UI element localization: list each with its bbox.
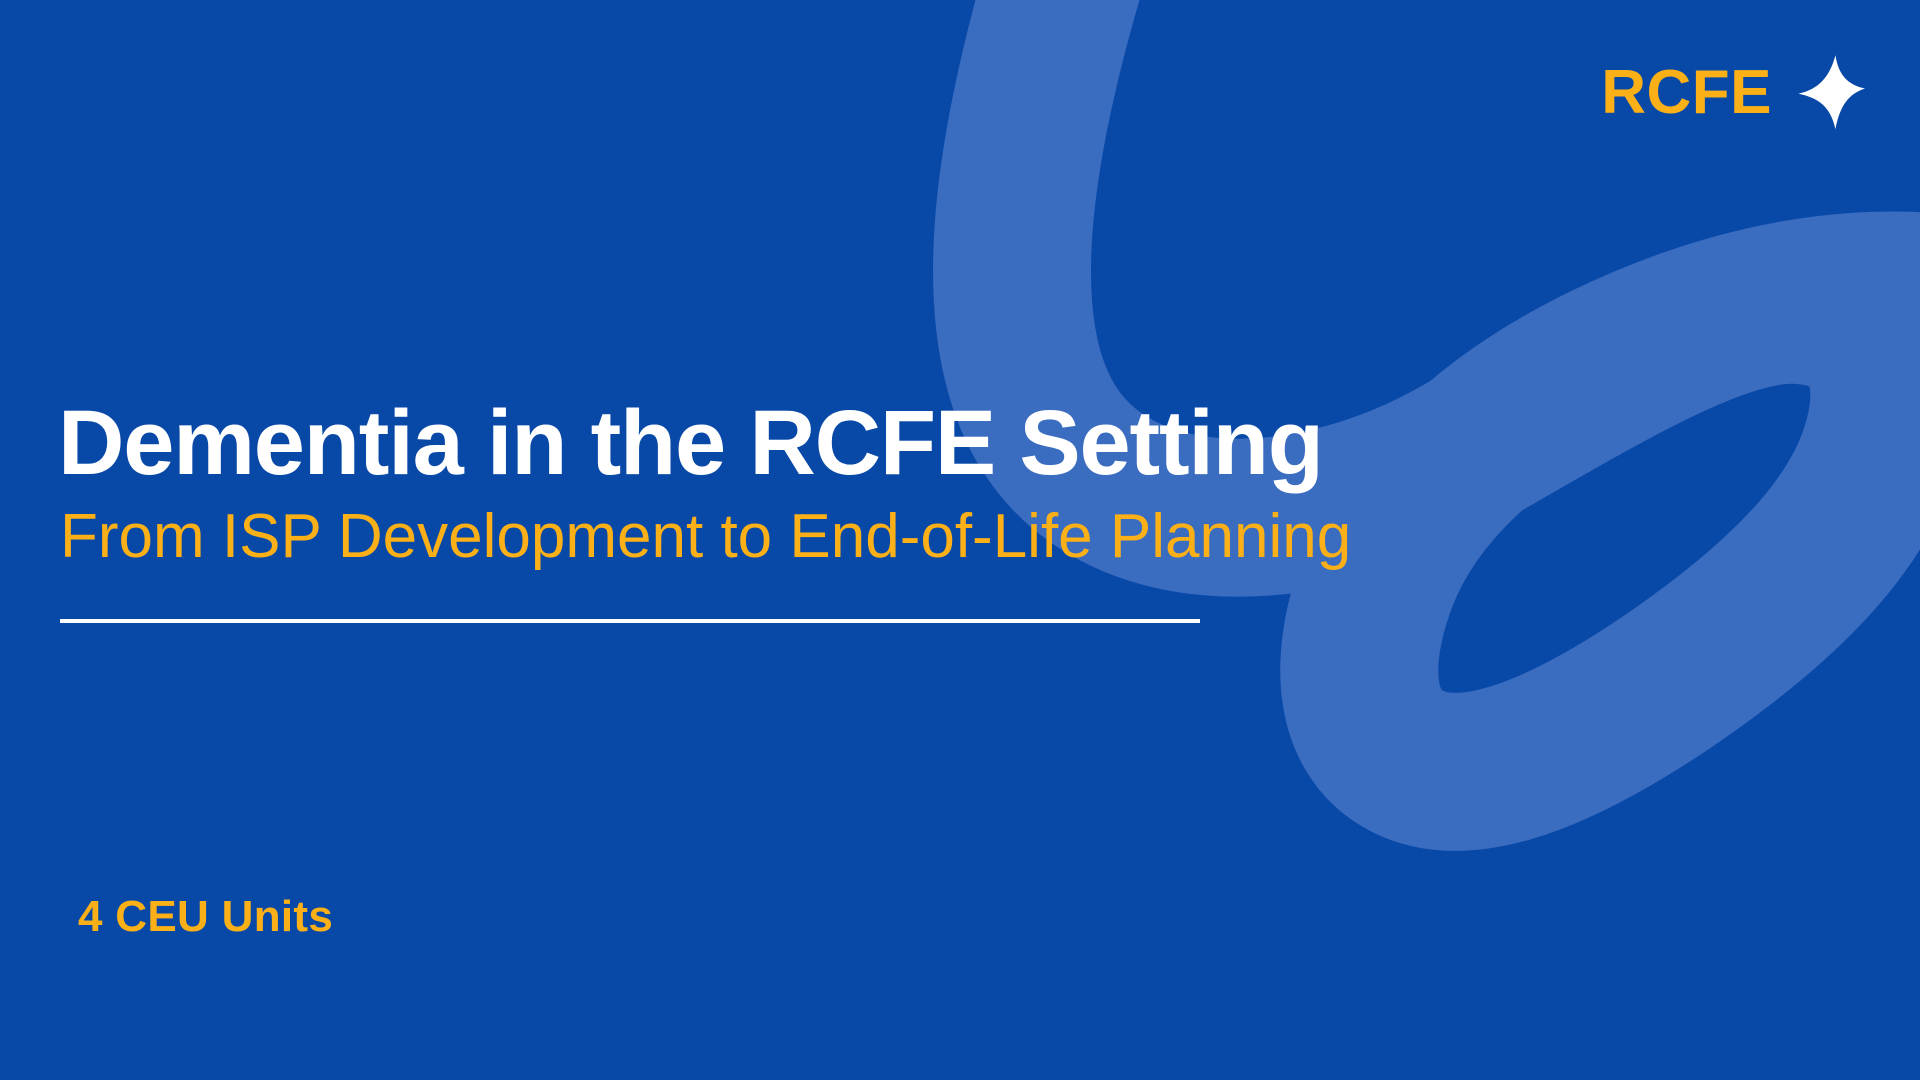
page-title: Dementia in the RCFE Setting bbox=[58, 396, 1398, 492]
page-subtitle: From ISP Development to End-of-Life Plan… bbox=[60, 500, 1398, 573]
title-block: Dementia in the RCFE Setting From ISP De… bbox=[58, 396, 1398, 631]
brand-name-text: RCFE bbox=[1601, 62, 1772, 124]
slide-canvas: RCFE Dementia in the RCFE Setting From I… bbox=[0, 0, 1920, 1080]
title-divider bbox=[60, 619, 1200, 623]
sparkle-star-icon bbox=[1794, 52, 1868, 134]
ceu-units-label: 4 CEU Units bbox=[78, 895, 333, 939]
brand-logo: RCFE bbox=[1601, 52, 1868, 134]
